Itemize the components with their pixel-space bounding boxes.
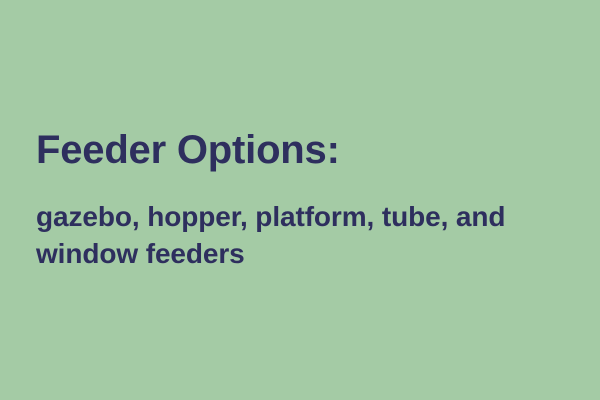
feeder-options-card: Feeder Options: gazebo, hopper, platform… [0, 0, 600, 400]
page-title: Feeder Options: [36, 128, 572, 172]
text-block: Feeder Options: gazebo, hopper, platform… [36, 128, 572, 272]
feeder-options-list-text: gazebo, hopper, platform, tube, and wind… [36, 172, 572, 272]
